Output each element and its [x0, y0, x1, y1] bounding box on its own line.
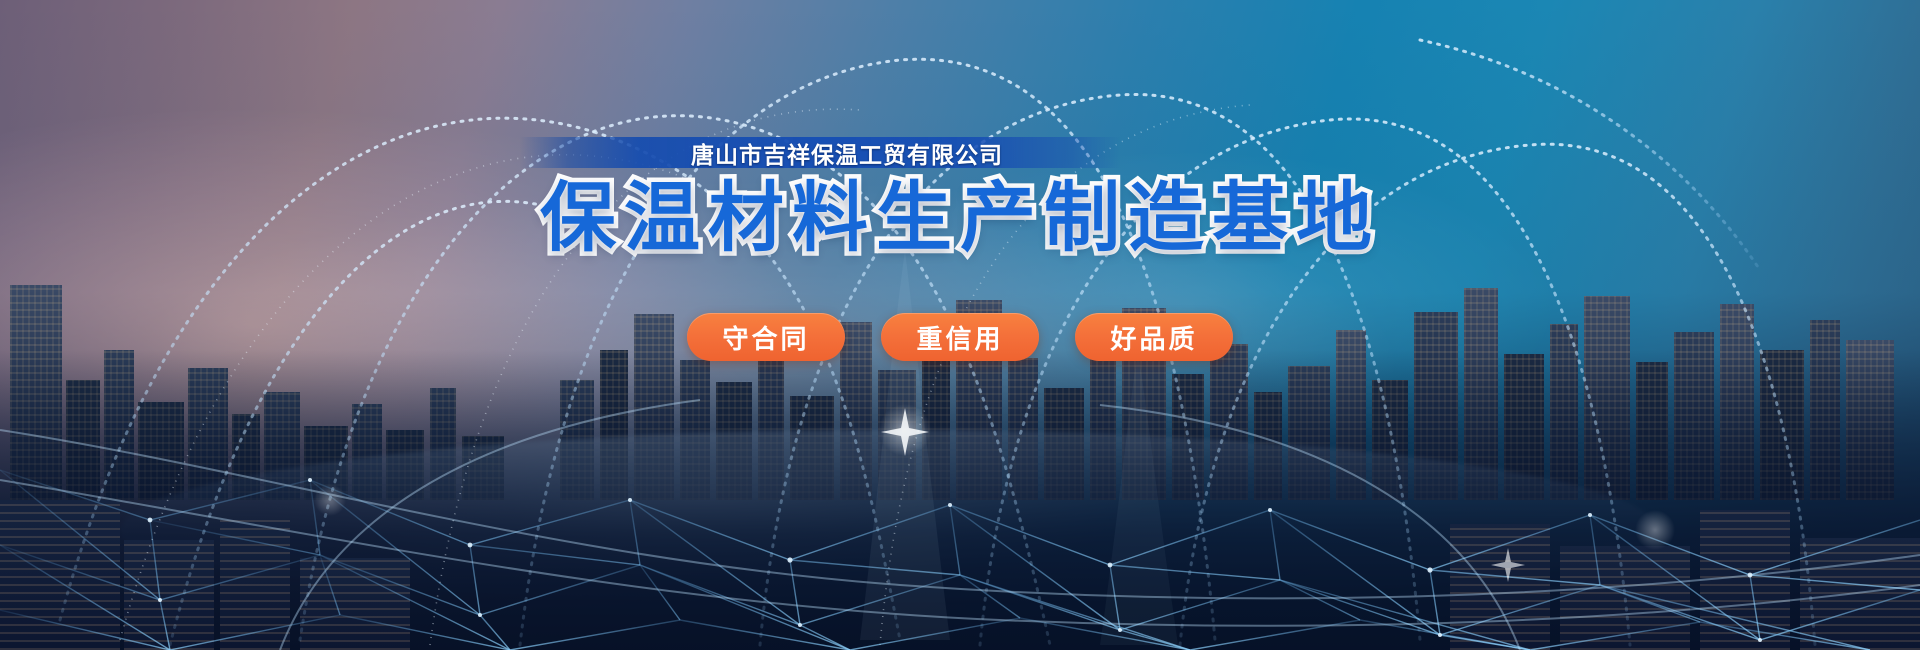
company-name-text: 唐山市吉祥保温工贸有限公司: [520, 137, 1120, 168]
tag-pill-label: 好品质: [1110, 319, 1197, 356]
headline-wrapper: 保温材料生产制造基地: [0, 176, 1920, 261]
page-title: 保温材料生产制造基地: [540, 176, 1380, 261]
hero-banner: 唐山市吉祥保温工贸有限公司 保温材料生产制造基地 守合同 重信用 好品质: [0, 0, 1920, 650]
tag-pill-zhongxinyong[interactable]: 重信用: [881, 313, 1039, 361]
tag-pill-group: 守合同 重信用 好品质: [0, 313, 1920, 361]
tag-pill-label: 重信用: [916, 319, 1003, 356]
company-name-band: 唐山市吉祥保温工贸有限公司: [520, 137, 1120, 168]
tag-pill-shouhetong[interactable]: 守合同: [687, 313, 845, 361]
banner-content: 唐山市吉祥保温工贸有限公司 保温材料生产制造基地 守合同 重信用 好品质: [0, 0, 1920, 650]
tag-pill-label: 守合同: [722, 319, 809, 356]
tag-pill-haopinzhi[interactable]: 好品质: [1075, 313, 1233, 361]
